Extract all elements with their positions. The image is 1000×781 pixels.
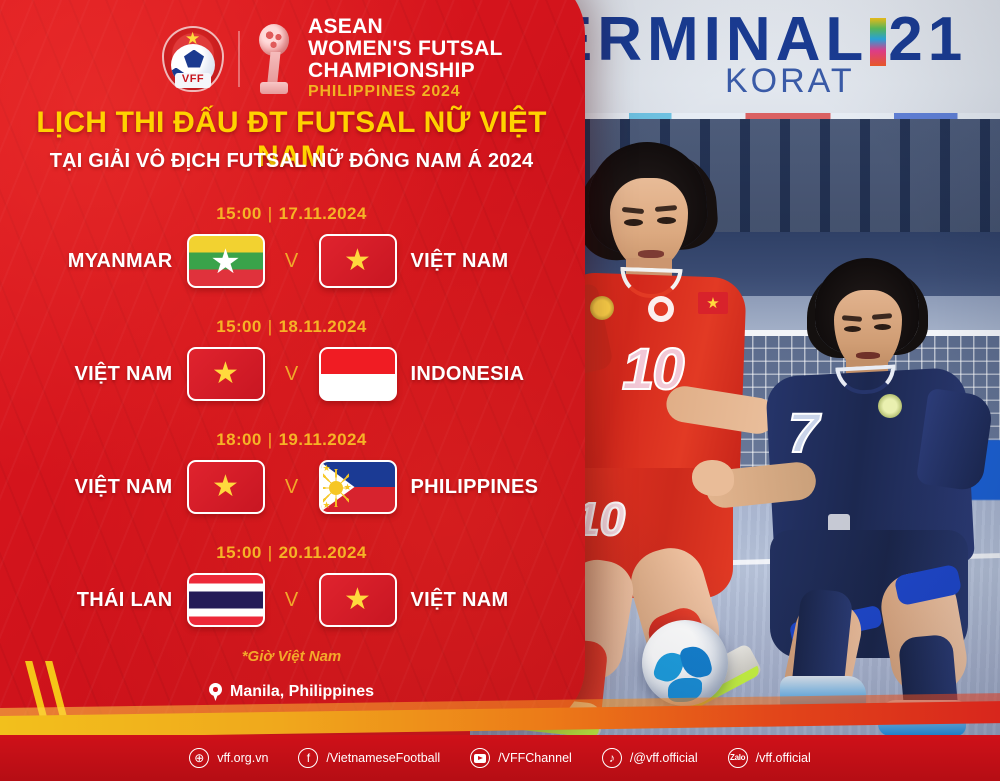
- versus-label: V: [279, 363, 305, 386]
- social-link-facebook[interactable]: f /VietnameseFootball: [298, 748, 440, 768]
- match-teams: VIỆT NAM ★ V INDONESIA: [0, 347, 583, 401]
- match-teams: MYANMAR ★ V ★ VIỆT NAM: [0, 234, 583, 288]
- match-schedule-list: 15:00|17.11.2024 MYANMAR ★ V ★ VIỆT NAM …: [0, 196, 583, 648]
- match-datetime: 15:00|20.11.2024: [0, 535, 583, 563]
- away-team-name: INDONESIA: [411, 363, 561, 386]
- tournament-line-4: PHILIPPINES 2024: [308, 84, 503, 101]
- flag-myanmar-icon: ★: [187, 234, 265, 288]
- match-row: 18:00|19.11.2024 VIỆT NAM ★ V ★★★ PHILIP…: [0, 422, 583, 535]
- player-home-flag-patch: ★: [698, 292, 728, 314]
- venue-label: Manila, Philippines: [230, 683, 374, 701]
- home-team-name: THÁI LAN: [23, 589, 173, 612]
- social-label: vff.org.vn: [217, 751, 268, 765]
- tournament-line-1: ASEAN: [308, 16, 503, 38]
- tiktok-icon: ♪: [602, 748, 622, 768]
- social-label: /VFFChannel: [498, 751, 572, 765]
- away-team-name: VIỆT NAM: [411, 250, 561, 273]
- match-time: 15:00: [216, 204, 261, 223]
- flag-thailand-icon: [187, 573, 265, 627]
- tournament-wordmark: ASEAN WOMEN'S FUTSAL CHAMPIONSHIP PHILIP…: [308, 16, 503, 101]
- match-time: 15:00: [216, 317, 261, 336]
- match-date: 20.11.2024: [279, 543, 367, 562]
- player-away-mouth: [856, 352, 880, 359]
- versus-label: V: [279, 589, 305, 612]
- social-label: /VietnameseFootball: [326, 751, 440, 765]
- away-team-name: VIỆT NAM: [411, 589, 561, 612]
- player-away-eye-left: [844, 326, 861, 332]
- match-time: 18:00: [216, 430, 261, 449]
- futsal-ball: [642, 620, 728, 706]
- player-home-mouth: [638, 250, 664, 258]
- home-team-name: MYANMAR: [23, 250, 173, 273]
- match-datetime: 15:00|18.11.2024: [0, 309, 583, 337]
- globe-icon: ⊕: [189, 748, 209, 768]
- social-link-youtube[interactable]: /VFFChannel: [470, 748, 572, 768]
- facebook-icon: f: [298, 748, 318, 768]
- match-separator: |: [262, 543, 279, 562]
- header-logo-row: ★ VFF ASEAN WOMEN'S FUTSAL CHAMPIONSHIP …: [162, 16, 503, 101]
- social-label: /@vff.official: [630, 751, 698, 765]
- timezone-note: *Giờ Việt Nam: [0, 648, 583, 665]
- match-date: 17.11.2024: [279, 204, 367, 223]
- flag-indonesia-icon: [319, 347, 397, 401]
- social-link-zalo[interactable]: Zalo /vff.official: [728, 748, 811, 768]
- match-row: 15:00|17.11.2024 MYANMAR ★ V ★ VIỆT NAM: [0, 196, 583, 309]
- page-subtitle: TẠI GIẢI VÔ ĐỊCH FUTSAL NỮ ĐÔNG NAM Á 20…: [0, 150, 583, 173]
- player-home-kit-logo: [648, 296, 674, 322]
- footer-bar: ⊕ vff.org.vn f /VietnameseFootball /VFFC…: [0, 735, 1000, 781]
- player-home-eye-right: [657, 217, 676, 224]
- match-row: 15:00|18.11.2024 VIỆT NAM ★ V INDONESIA: [0, 309, 583, 422]
- match-separator: |: [262, 204, 279, 223]
- location-pin-icon: [209, 683, 222, 701]
- match-datetime: 15:00|17.11.2024: [0, 196, 583, 224]
- vff-crest-icon: ★ VFF: [162, 26, 224, 92]
- signage-color-bar-icon: [870, 18, 886, 66]
- match-row: 15:00|20.11.2024 THÁI LAN V ★ VIỆT NAM: [0, 535, 583, 648]
- social-label: /vff.official: [756, 751, 811, 765]
- flag-vietnam-icon: ★: [187, 347, 265, 401]
- player-away-shirt-number: 7: [788, 400, 819, 465]
- signage-city-label: KORAT: [725, 62, 855, 101]
- player-home-eye-left: [624, 219, 643, 226]
- home-team-name: VIỆT NAM: [23, 476, 173, 499]
- match-datetime: 18:00|19.11.2024: [0, 422, 583, 450]
- tournament-line-2: WOMEN'S FUTSAL: [308, 38, 503, 60]
- trophy-icon: [254, 24, 294, 94]
- zalo-icon: Zalo: [728, 748, 748, 768]
- player-home-sleeve-badge: [590, 296, 614, 320]
- versus-label: V: [279, 476, 305, 499]
- away-team-name: PHILIPPINES: [411, 476, 561, 499]
- match-separator: |: [262, 430, 279, 449]
- home-team-name: VIỆT NAM: [23, 363, 173, 386]
- logo-divider: [238, 31, 240, 87]
- social-link-website[interactable]: ⊕ vff.org.vn: [189, 748, 268, 768]
- tournament-line-3: CHAMPIONSHIP: [308, 60, 503, 82]
- match-teams: THÁI LAN V ★ VIỆT NAM: [0, 573, 583, 627]
- player-away-sleeve-badge: [878, 394, 902, 418]
- match-teams: VIỆT NAM ★ V ★★★ PHILIPPINES: [0, 460, 583, 514]
- signage-number: 21: [888, 5, 967, 74]
- youtube-icon: [470, 748, 490, 768]
- poster-root: TERMINAL21 KORAT THAILAND ★ 10: [0, 0, 1000, 781]
- player-away-hand-left: [692, 460, 734, 496]
- flag-vietnam-icon: ★: [319, 573, 397, 627]
- flag-vietnam-icon: ★: [187, 460, 265, 514]
- match-separator: |: [262, 317, 279, 336]
- venue-note: Manila, Philippines: [0, 683, 583, 701]
- flag-philippines-icon: ★★★: [319, 460, 397, 514]
- player-home-shirt-number: 10: [622, 336, 732, 396]
- match-date: 19.11.2024: [279, 430, 367, 449]
- versus-label: V: [279, 250, 305, 273]
- social-link-tiktok[interactable]: ♪ /@vff.official: [602, 748, 698, 768]
- match-time: 15:00: [216, 543, 261, 562]
- match-date: 18.11.2024: [279, 317, 367, 336]
- vff-crest-label: VFF: [162, 73, 224, 85]
- player-away-eye-right: [874, 324, 891, 330]
- flag-vietnam-icon: ★: [319, 234, 397, 288]
